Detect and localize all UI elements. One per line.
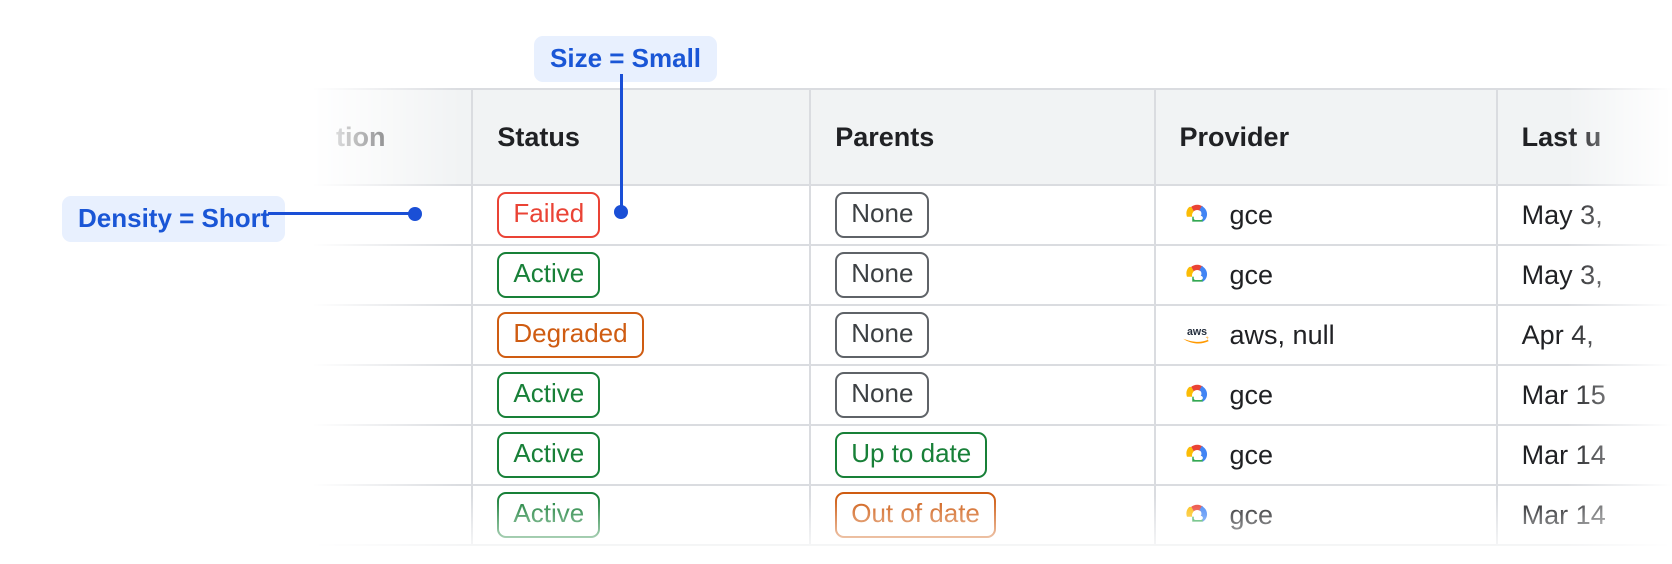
parents-badge[interactable]: None [835, 192, 929, 237]
google-cloud-icon [1180, 438, 1214, 472]
status-badge[interactable]: Active [497, 492, 600, 537]
cell-status: Degraded [472, 305, 810, 365]
provider-label: aws, null [1230, 320, 1335, 351]
column-header-status[interactable]: Status [472, 89, 810, 185]
cell-status: Active [472, 365, 810, 425]
provider-value: gce [1180, 258, 1472, 292]
table-row[interactable]: FailedNonegceMay 3, [312, 185, 1672, 245]
svg-text:aws: aws [1187, 326, 1207, 338]
cell-parents: None [810, 305, 1154, 365]
provider-value: gce [1180, 498, 1472, 532]
cell-description [312, 485, 472, 545]
provider-value: awsaws, null [1180, 318, 1472, 352]
table-row[interactable]: DegradedNoneawsaws, nullApr 4, [312, 305, 1672, 365]
google-cloud-icon [1180, 258, 1214, 292]
cell-last-updated: Mar 15 [1497, 365, 1672, 425]
google-cloud-icon [1180, 498, 1214, 532]
google-cloud-icon [1180, 378, 1214, 412]
provider-label: gce [1230, 440, 1274, 471]
cell-status: Active [472, 485, 810, 545]
table-row[interactable]: ActiveOut of dategceMar 14 [312, 485, 1672, 545]
table-header-row: tion Status Parents Provider Last u [312, 89, 1672, 185]
provider-value: gce [1180, 438, 1472, 472]
status-badge[interactable]: Degraded [497, 312, 643, 357]
cell-last-updated: Mar 14 [1497, 485, 1672, 545]
provider-label: gce [1230, 500, 1274, 531]
status-badge[interactable]: Active [497, 252, 600, 297]
cell-status: Active [472, 425, 810, 485]
cell-provider: gce [1155, 425, 1497, 485]
data-table-viewport[interactable]: tion Status Parents Provider Last u Fail… [312, 88, 1672, 564]
cell-description [312, 365, 472, 425]
cell-last-updated: May 3, [1497, 245, 1672, 305]
provider-value: gce [1180, 378, 1472, 412]
status-badge[interactable]: Active [497, 432, 600, 477]
annotation-label-size: Size = Small [534, 36, 717, 82]
cell-description [312, 425, 472, 485]
provider-label: gce [1230, 260, 1274, 291]
google-cloud-icon [1180, 198, 1214, 232]
provider-label: gce [1230, 380, 1274, 411]
table-row[interactable]: ActiveUp to dategceMar 14 [312, 425, 1672, 485]
cell-description [312, 305, 472, 365]
cell-last-updated: Apr 4, [1497, 305, 1672, 365]
cell-last-updated: Mar 14 [1497, 425, 1672, 485]
status-badge[interactable]: Failed [497, 192, 600, 237]
cell-provider: awsaws, null [1155, 305, 1497, 365]
cell-description [312, 245, 472, 305]
table-body: FailedNonegceMay 3,ActiveNonegceMay 3,De… [312, 185, 1672, 545]
column-header-provider[interactable]: Provider [1155, 89, 1497, 185]
cell-parents: None [810, 185, 1154, 245]
column-header-parents[interactable]: Parents [810, 89, 1154, 185]
parents-badge[interactable]: None [835, 372, 929, 417]
aws-icon: aws [1180, 318, 1214, 352]
cell-provider: gce [1155, 485, 1497, 545]
cell-parents: Out of date [810, 485, 1154, 545]
parents-badge[interactable]: Out of date [835, 492, 996, 537]
cell-provider: gce [1155, 185, 1497, 245]
table-header: tion Status Parents Provider Last u [312, 89, 1672, 185]
table-row[interactable]: ActiveNonegceMar 15 [312, 365, 1672, 425]
parents-badge[interactable]: Up to date [835, 432, 987, 477]
annotation-label-density: Density = Short [62, 196, 285, 242]
cell-description [312, 185, 472, 245]
parents-badge[interactable]: None [835, 312, 929, 357]
parents-badge[interactable]: None [835, 252, 929, 297]
column-header-description[interactable]: tion [312, 89, 472, 185]
cell-parents: None [810, 245, 1154, 305]
cell-parents: Up to date [810, 425, 1154, 485]
cell-status: Active [472, 245, 810, 305]
cell-status: Failed [472, 185, 810, 245]
column-header-last-updated[interactable]: Last u [1497, 89, 1672, 185]
status-badge[interactable]: Active [497, 372, 600, 417]
provider-value: gce [1180, 198, 1472, 232]
provider-label: gce [1230, 200, 1274, 231]
cell-parents: None [810, 365, 1154, 425]
cell-provider: gce [1155, 245, 1497, 305]
resources-table: tion Status Parents Provider Last u Fail… [312, 88, 1672, 546]
cell-provider: gce [1155, 365, 1497, 425]
table-row[interactable]: ActiveNonegceMay 3, [312, 245, 1672, 305]
cell-last-updated: May 3, [1497, 185, 1672, 245]
